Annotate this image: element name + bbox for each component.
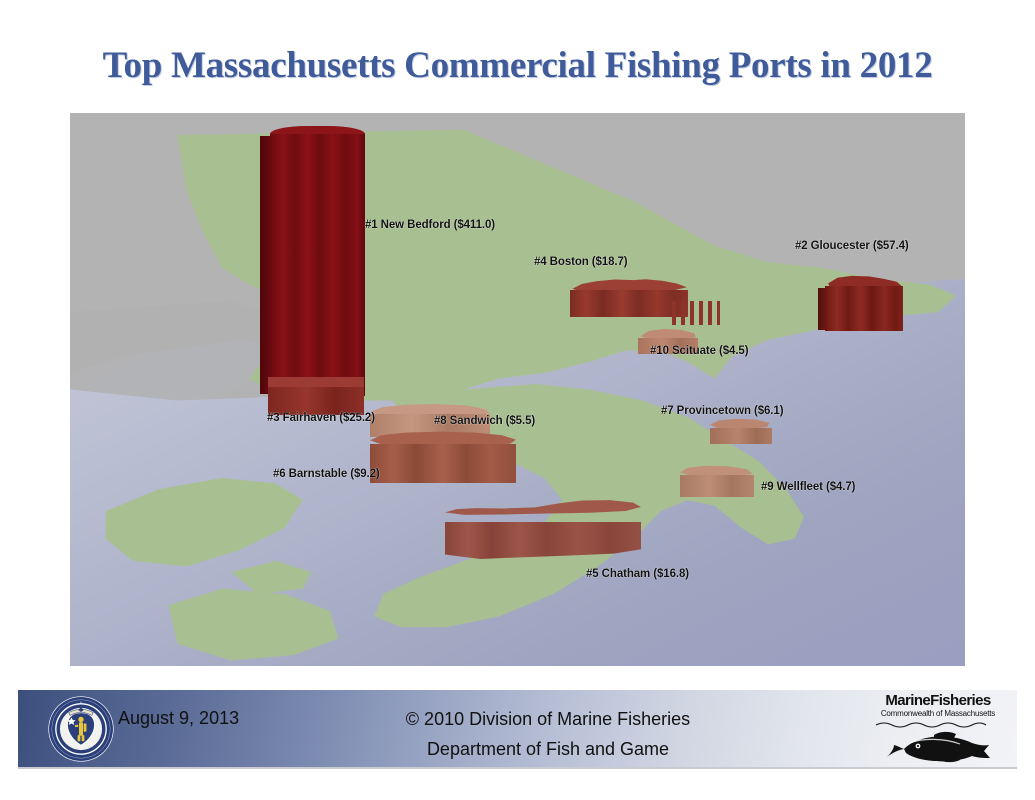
port-bar-front [370,444,516,483]
port-label-fairhaven: #3 Fairhaven ($25.2) [267,412,375,424]
marine-fisheries-logo-subtitle: Commonwealth of Massachusetts [873,709,1003,719]
port-bar-top [445,498,641,516]
slide-footer: * August 9, 2013 © 2010 Division of Mari… [18,690,1017,769]
port-bar-front [570,290,688,317]
port-label-scituate: #10 Scituate ($4.5) [650,345,748,357]
marine-fisheries-logo-title: MarineFisheries [873,693,1003,709]
port-label-boston: #4 Boston ($18.7) [534,256,628,268]
port-base-new-bedford [268,377,364,417]
massachusetts-state-seal-icon: * [47,694,115,764]
port-bar-chatham[interactable] [445,498,641,566]
footer-copyright-line1: © 2010 Division of Marine Fisheries [348,704,748,734]
port-bar-front [825,286,903,331]
footer-copyright-line2: Department of Fish and Game [348,734,748,764]
port-label-new-bedford: #1 New Bedford ($411.0) [365,219,495,231]
port-bar-gloucester[interactable] [825,275,903,331]
port-bar-boston[interactable] [570,278,688,318]
port-label-wellfleet: #9 Wellfleet ($4.7) [761,481,855,493]
port-label-chatham: #5 Chatham ($16.8) [586,568,689,580]
port-bar-side [818,288,827,330]
footer-copyright: © 2010 Division of Marine Fisheries Depa… [348,704,748,764]
port-bar-front [445,522,641,566]
port-bar-front [672,301,720,325]
port-bar-wellfleet[interactable] [680,465,754,497]
port-bar-new-bedford[interactable] [270,126,365,401]
port-label-gloucester: #2 Gloucester ($57.4) [795,240,909,252]
port-label-sandwich: #8 Sandwich ($5.5) [434,415,535,427]
port-bar-provincetown[interactable] [710,418,772,444]
port-bar-front [710,428,772,444]
map-figure: #1 New Bedford ($411.0) #2 Gloucester ($… [70,113,965,666]
page-title: Top Massachusetts Commercial Fishing Por… [0,44,1035,87]
port-base-front [268,387,364,415]
port-bar-front [270,134,365,396]
footer-date: August 9, 2013 [118,708,239,729]
port-bar-boston-harbor-piers [672,301,720,325]
fish-icon [874,719,1002,765]
marine-fisheries-logo: MarineFisheries Commonwealth of Massachu… [873,693,1003,770]
port-bar-front [680,475,754,497]
port-bar-barnstable[interactable] [370,431,516,483]
port-label-provincetown: #7 Provincetown ($6.1) [661,405,783,417]
port-bar-side [260,136,272,394]
port-label-barnstable: #6 Barnstable ($9.2) [273,468,380,480]
